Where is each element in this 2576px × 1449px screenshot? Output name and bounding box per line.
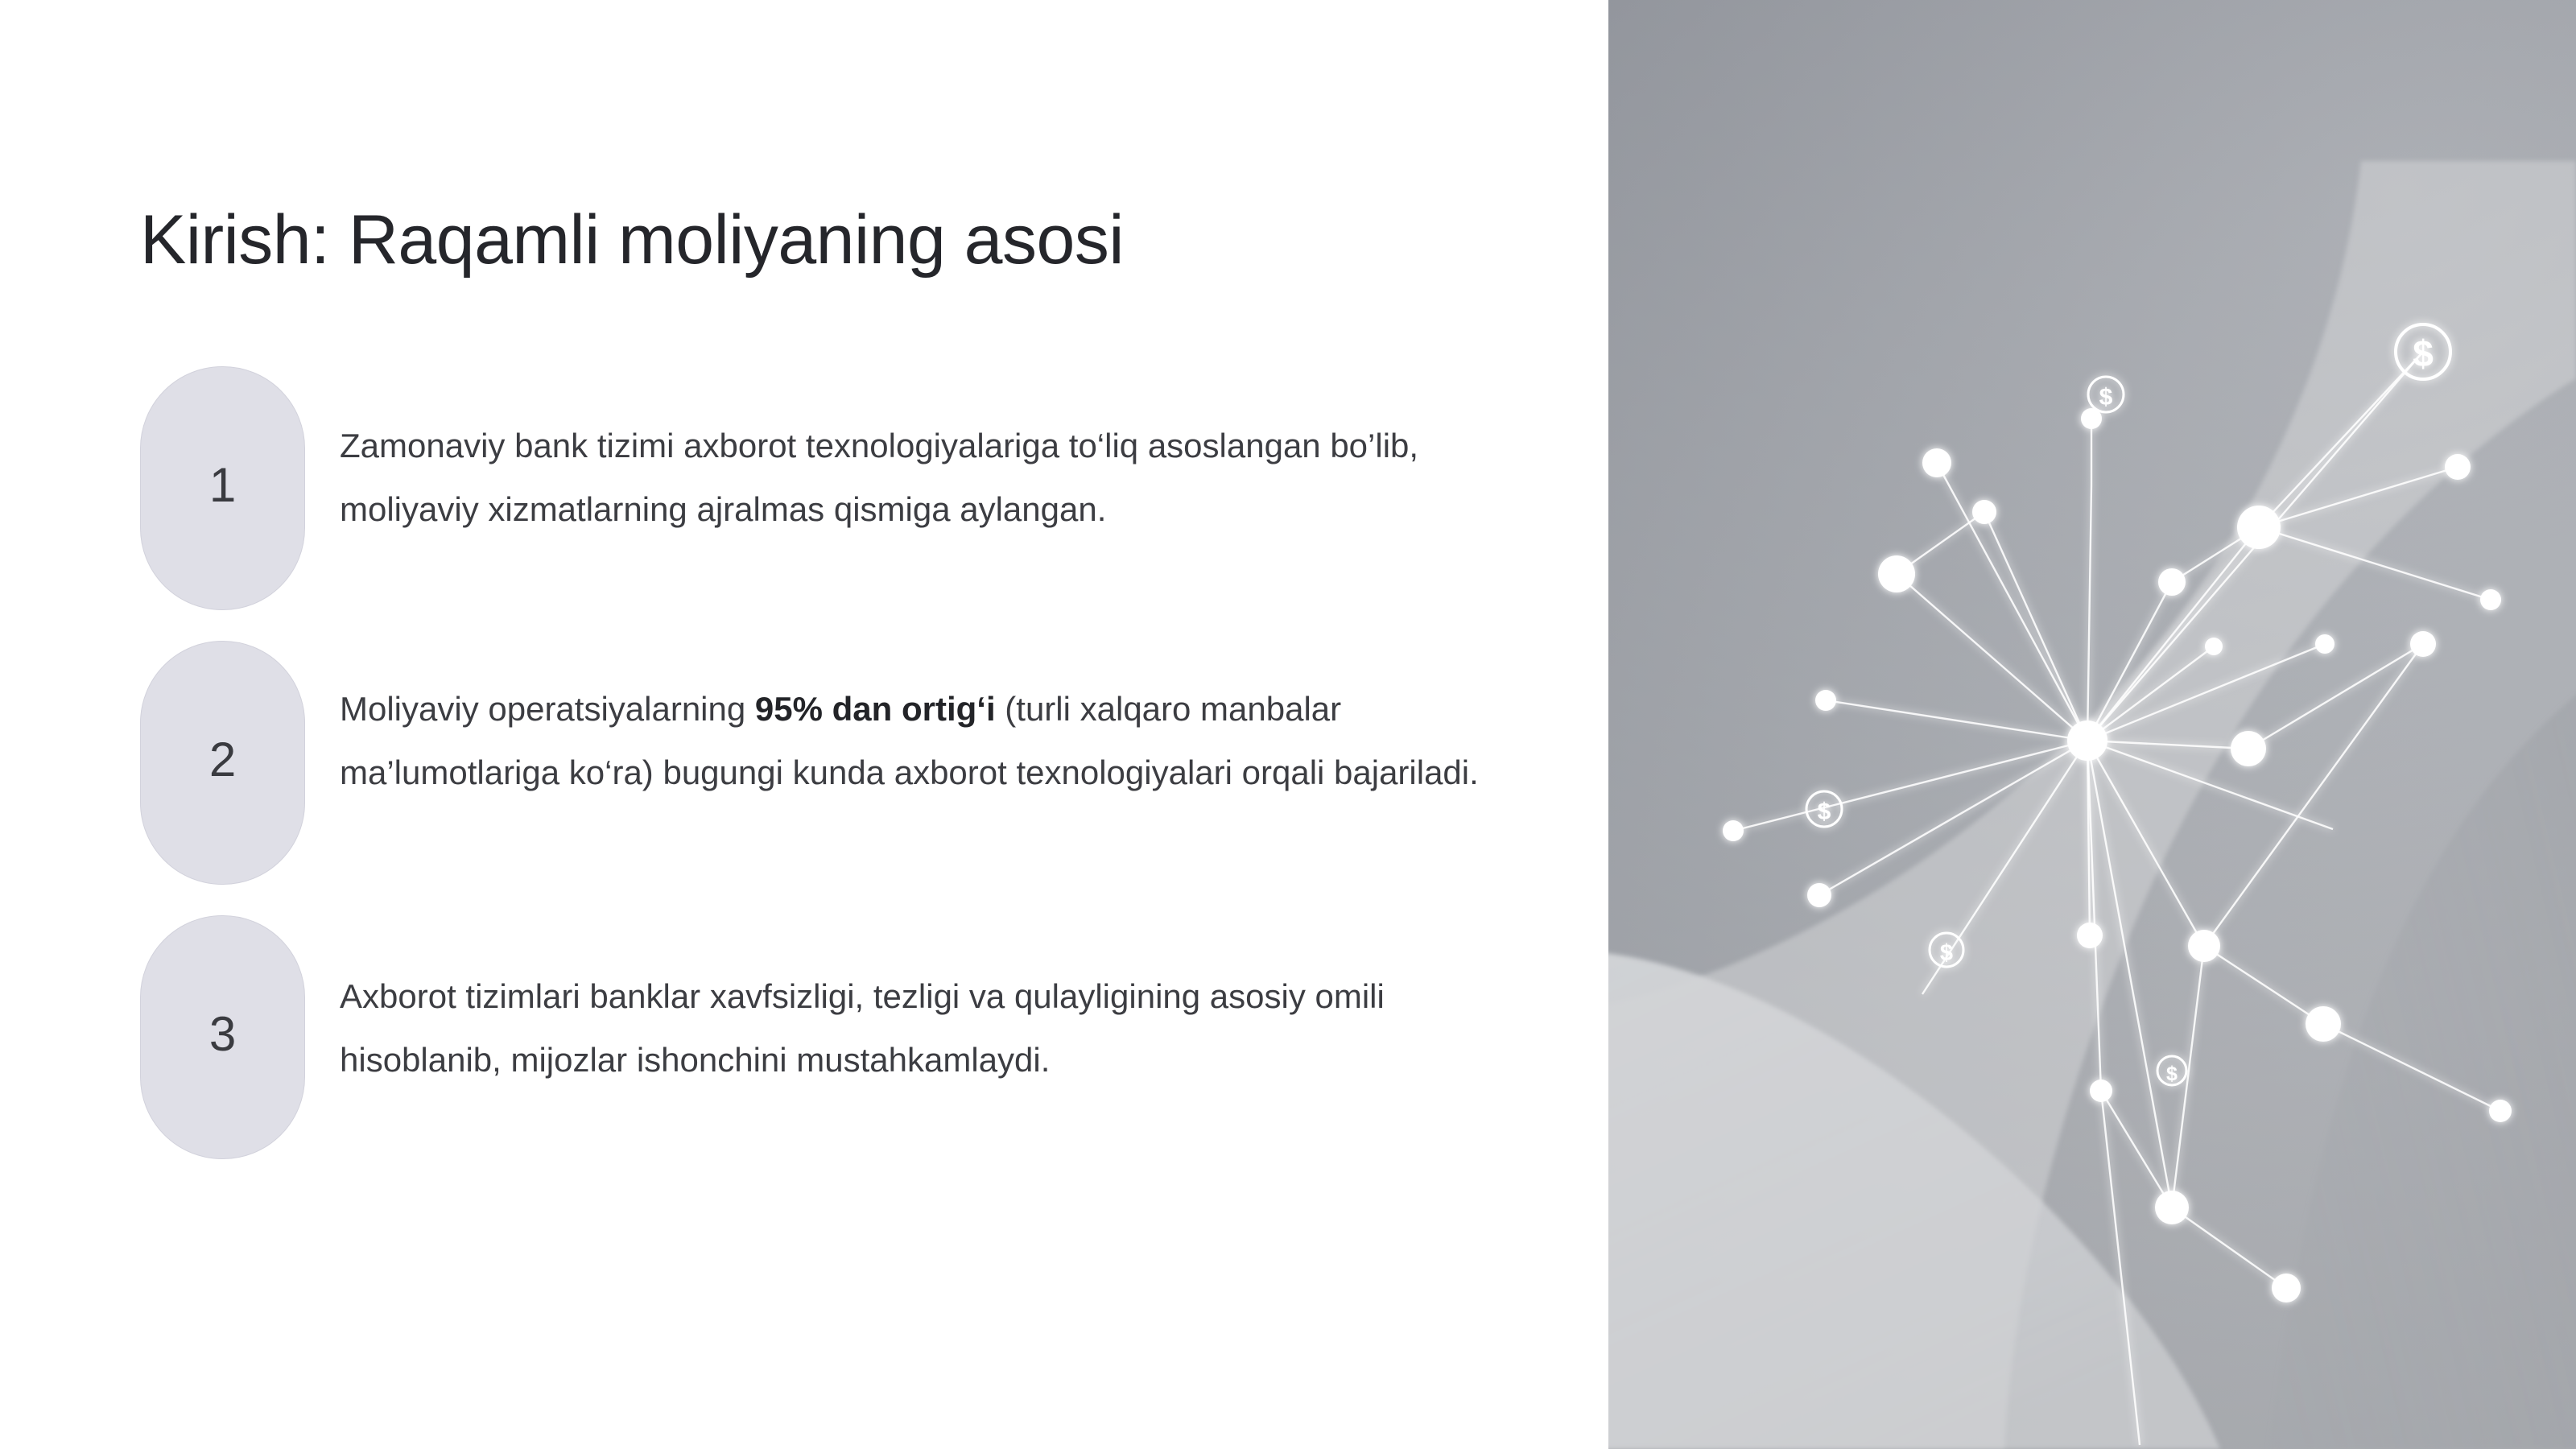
point-number-badge: 2 [140, 641, 305, 885]
point-number-badge: 3 [140, 915, 305, 1159]
slide-root: Kirish: Raqamli moliyaning asosi 1 Zamon… [0, 0, 2576, 1449]
list-item: 1 Zamonaviy bank tizimi axborot texnolog… [140, 366, 1557, 610]
network-node [2188, 930, 2220, 962]
network-node [2480, 589, 2501, 610]
point-text: Axborot tizimlari banklar xavfsizligi, t… [305, 915, 1515, 1092]
svg-text:$: $ [1818, 799, 1831, 825]
network-node [2237, 506, 2281, 549]
network-node-hub [2067, 720, 2107, 761]
network-node [2315, 634, 2334, 654]
page-title: Kirish: Raqamli moliyaning asosi [140, 205, 1509, 275]
financial-network-graphic: $ $ $ $ $ [1608, 0, 2576, 1449]
numbered-points-list: 1 Zamonaviy bank tizimi axborot texnolog… [140, 366, 1557, 1190]
point-text-part: Moliyaviy operatsiyalarning [340, 690, 755, 728]
network-node [2306, 1006, 2341, 1042]
network-node [2272, 1274, 2301, 1302]
network-node [2489, 1100, 2512, 1122]
network-node [1815, 690, 1836, 711]
point-text-part: Zamonaviy bank tizimi axborot texnologiy… [340, 427, 1418, 528]
network-node [2445, 454, 2471, 480]
point-text: Zamonaviy bank tizimi axborot texnologiy… [305, 366, 1515, 542]
content-pane: Kirish: Raqamli moliyaning asosi 1 Zamon… [0, 0, 1608, 1449]
svg-text:$: $ [2413, 332, 2434, 374]
dollar-badge-icon: $ [2157, 1056, 2186, 1085]
dollar-badge-icon: $ [2088, 377, 2124, 412]
network-node [1972, 500, 1996, 524]
svg-text:$: $ [2099, 384, 2113, 411]
point-text-emphasis: 95% dan ortig‘i [755, 690, 996, 728]
dollar-badge-icon: $ [1806, 791, 1842, 827]
network-node [2205, 638, 2223, 655]
network-node [2158, 568, 2186, 596]
network-node [1807, 883, 1831, 907]
network-node [1723, 820, 1744, 841]
point-text: Moliyaviy operatsiyalarning 95% dan orti… [305, 641, 1515, 805]
point-number-badge: 1 [140, 366, 305, 610]
point-number-label: 3 [209, 1010, 236, 1059]
list-item: 3 Axborot tizimlari banklar xavfsizligi,… [140, 915, 1557, 1159]
network-node [1922, 448, 1951, 477]
network-node [2410, 631, 2436, 657]
svg-text:$: $ [1940, 940, 1953, 966]
network-node [2090, 1080, 2112, 1102]
point-number-label: 2 [209, 736, 236, 784]
network-node [2077, 923, 2103, 948]
point-number-label: 1 [209, 461, 236, 510]
decorative-image-panel: $ $ $ $ $ [1608, 0, 2576, 1449]
network-node [1878, 555, 1915, 592]
svg-text:$: $ [2166, 1063, 2178, 1085]
network-node [2155, 1191, 2189, 1224]
list-item: 2 Moliyaviy operatsiyalarning 95% dan or… [140, 641, 1557, 885]
network-node [2231, 731, 2266, 766]
point-text-part: Axborot tizimlari banklar xavfsizligi, t… [340, 977, 1385, 1079]
